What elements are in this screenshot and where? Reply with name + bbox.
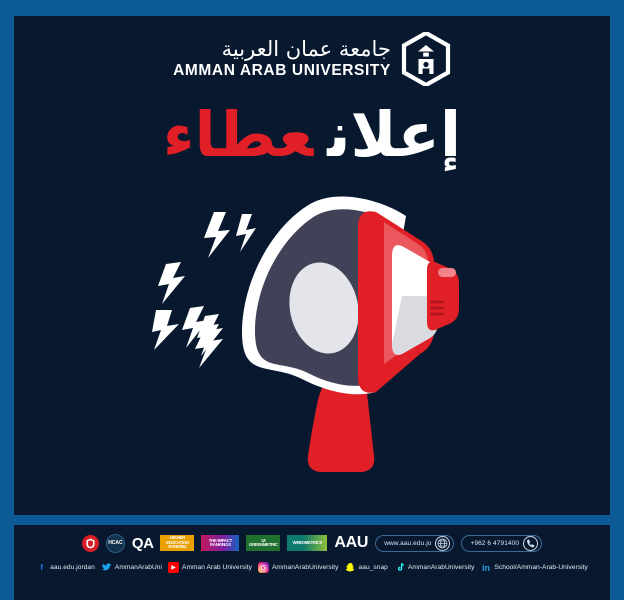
social-item-twitter[interactable]: AmmanArabUni xyxy=(101,562,162,573)
the-impact-rankings-label: THE IMPACT RANKINGS xyxy=(201,535,239,551)
accreditation-logo-row: HCAC QA HIGHER EDUCATION RANKING THE IMP… xyxy=(22,531,602,555)
poster-canvas: جامعة عمان العربية AMMAN ARAB UNIVERSITY… xyxy=(0,0,624,600)
youtube-handle: Amman Arab University xyxy=(182,564,252,571)
poster-footer: HCAC QA HIGHER EDUCATION RANKING THE IMP… xyxy=(14,525,610,600)
university-logo: جامعة عمان العربية AMMAN ARAB UNIVERSITY xyxy=(14,16,610,86)
accreditation-aau-mark: AAU xyxy=(334,535,368,552)
social-item-instagram[interactable]: AmmanArabUniversity xyxy=(258,562,339,573)
poster-inner-frame: جامعة عمان العربية AMMAN ARAB UNIVERSITY… xyxy=(14,16,610,525)
accreditation-hcac-seal: HCAC xyxy=(106,535,125,552)
headline-word-ataa: عطاء xyxy=(163,98,313,171)
footer-divider xyxy=(14,515,610,525)
jordan-accreditation-seal-icon xyxy=(82,535,99,552)
youtube-icon: ▶ xyxy=(168,562,179,573)
social-item-snapchat[interactable]: aau_snap xyxy=(345,562,388,573)
globe-icon xyxy=(435,536,450,551)
webometrics-label: WEBOMETRICS xyxy=(287,535,327,551)
website-pill[interactable]: www.aau.edu.jo xyxy=(375,535,454,552)
phone-number: +962 6 4791400 xyxy=(470,540,519,547)
twitter-handle: AmmanArabUni xyxy=(115,564,162,571)
snapchat-icon xyxy=(345,562,356,573)
sound-spark-group xyxy=(152,212,256,368)
facebook-icon: f xyxy=(36,562,47,573)
qa-mark-label: QA xyxy=(132,535,154,552)
instagram-icon xyxy=(258,562,269,573)
megaphone-cap-highlight xyxy=(438,268,456,277)
instagram-handle: AmmanArabUniversity xyxy=(272,564,339,571)
accreditation-the-impact-rankings-badge: THE IMPACT RANKINGS xyxy=(201,535,239,552)
megaphone-icon xyxy=(152,192,472,492)
accreditation-qa-mark: QA xyxy=(132,535,154,552)
phone-icon xyxy=(523,536,538,551)
tiktok-handle: AmmanArabUniversity xyxy=(408,564,475,571)
linkedin-handle: School/Amman-Arab-University xyxy=(494,564,587,571)
social-item-facebook[interactable]: f aau.edu.jordan xyxy=(36,562,95,573)
social-item-tiktok[interactable]: AmmanArabUniversity xyxy=(394,562,475,573)
university-ranking-label: HIGHER EDUCATION RANKING xyxy=(160,535,194,551)
logo-wordmark: جامعة عمان العربية AMMAN ARAB UNIVERSITY xyxy=(173,39,391,79)
phone-pill[interactable]: +962 6 4791400 xyxy=(461,535,542,552)
headline-word-ielan: إعلان xyxy=(327,98,461,171)
facebook-handle: aau.edu.jordan xyxy=(50,564,95,571)
snapchat-handle: aau_snap xyxy=(359,564,388,571)
hexagon-university-emblem-icon xyxy=(401,32,451,86)
social-item-youtube[interactable]: ▶ Amman Arab University xyxy=(168,562,252,573)
page-title: إعلانعطاء xyxy=(14,104,610,166)
logo-english-name: AMMAN ARAB UNIVERSITY xyxy=(173,63,391,79)
green-metric-label: UI GREENMETRIC xyxy=(246,535,280,551)
aau-mark-label: AAU xyxy=(334,534,368,552)
hcac-seal-label: HCAC xyxy=(108,540,122,546)
accreditation-university-ranking-badge: HIGHER EDUCATION RANKING xyxy=(160,535,194,552)
accreditation-jordan-accreditation-seal xyxy=(82,535,99,552)
hcac-seal-icon: HCAC xyxy=(106,534,125,553)
linkedin-icon: in xyxy=(480,562,491,573)
twitter-icon xyxy=(101,562,112,573)
megaphone-illustration xyxy=(14,192,610,492)
social-media-row: f aau.edu.jordan AmmanArabUni ▶ Amman Ar… xyxy=(22,562,602,573)
logo-arabic-name: جامعة عمان العربية xyxy=(222,39,391,60)
accreditation-webometrics-badge: WEBOMETRICS xyxy=(287,535,327,552)
accreditation-green-metric-badge: UI GREENMETRIC xyxy=(246,535,280,552)
social-item-linkedin[interactable]: in School/Amman-Arab-University xyxy=(480,562,587,573)
tiktok-icon xyxy=(394,562,405,573)
website-url: www.aau.edu.jo xyxy=(384,540,431,547)
